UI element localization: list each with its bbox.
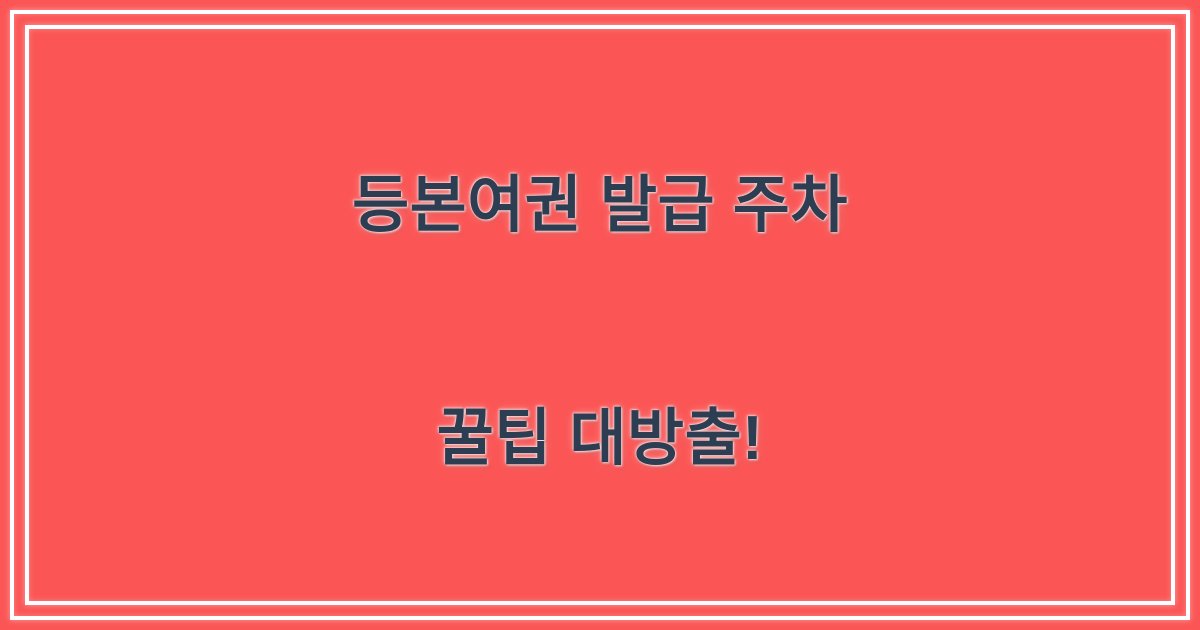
headline-line-1: 등본여권 발급 주차 bbox=[352, 167, 848, 245]
page-title: 등본여권 발급 주차 꿀팁 대방출! bbox=[352, 12, 848, 630]
thumbnail-banner: 등본여권 발급 주차 꿀팁 대방출! bbox=[0, 0, 1200, 630]
headline-container: 등본여권 발급 주차 꿀팁 대방출! bbox=[0, 0, 1200, 630]
headline-line-2: 꿀팁 대방출! bbox=[352, 400, 848, 478]
